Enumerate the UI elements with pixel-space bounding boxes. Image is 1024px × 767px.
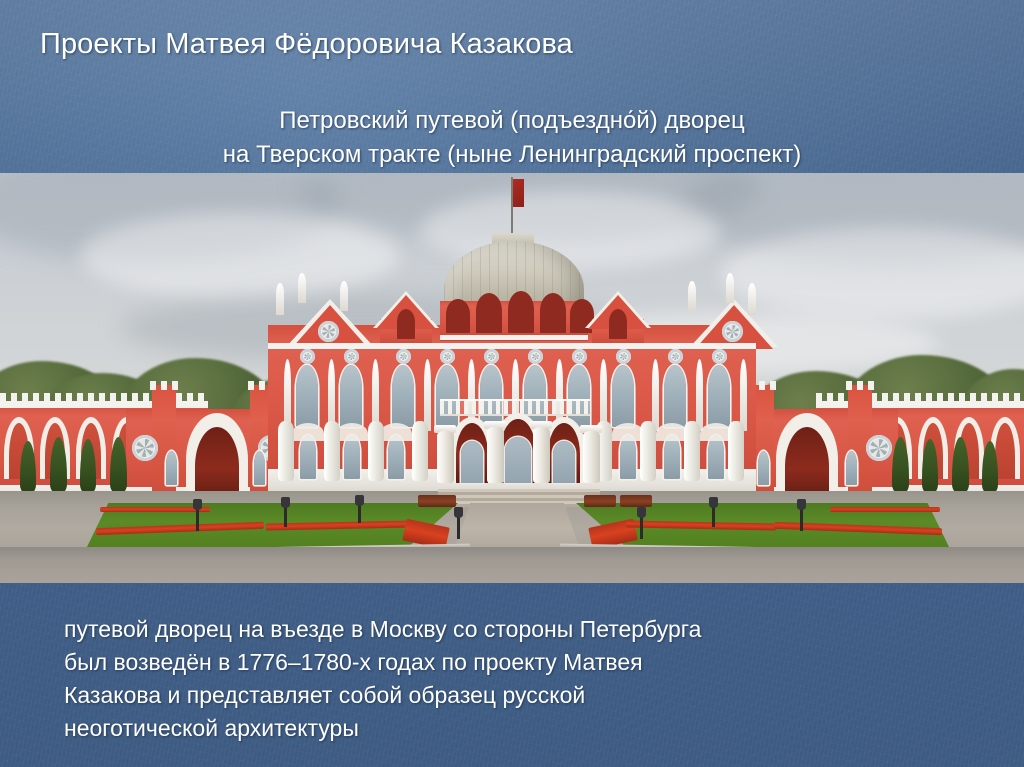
lamp-head (797, 499, 806, 510)
ground-floor-window (664, 435, 680, 479)
body-line-3: Казакова и представляет собой образец ру… (64, 679, 964, 712)
body-line-2: был возведён в 1776–1780-х годах по прое… (64, 646, 964, 679)
ground-floor-window (620, 435, 636, 479)
slide-title: Проекты Матвея Фёдоровича Казакова (40, 26, 980, 62)
entrance-door (553, 441, 575, 483)
corner-pinnacle (276, 283, 284, 315)
left-wing-crenellation (0, 393, 208, 402)
rosette-window (132, 435, 158, 461)
gothic-window (758, 451, 769, 485)
facade-baluster (324, 421, 340, 481)
facade-baluster (278, 421, 294, 481)
ground-floor-window (708, 435, 724, 479)
window-medallion (484, 349, 499, 364)
lamp-head (454, 507, 463, 518)
lamp-head (637, 507, 646, 518)
ground-arch-trim (380, 423, 412, 441)
gothic-window (568, 365, 590, 427)
portico-column (437, 431, 454, 483)
gothic-window (612, 365, 634, 427)
facade-baluster (684, 421, 700, 481)
gothic-window (166, 451, 177, 485)
gallery-arch (540, 293, 566, 333)
lamp-head (281, 497, 290, 508)
colonnette (424, 359, 431, 431)
corner-pinnacle (726, 273, 734, 303)
body-line-4: неоготической архитектуры (64, 712, 964, 745)
gothic-window (392, 365, 414, 427)
dormer-window (397, 309, 415, 339)
body-line-1: путевой дворец на въезде в Москву со сто… (64, 613, 964, 646)
corner-pinnacle (340, 281, 348, 311)
portico-column (583, 431, 600, 483)
window-medallion (572, 349, 587, 364)
gothic-window (340, 365, 362, 427)
park-bench (620, 495, 652, 507)
gallery-cornice (440, 335, 588, 340)
ground-floor-window (344, 435, 360, 479)
gothic-window (254, 451, 265, 485)
corner-pinnacle (298, 273, 306, 303)
window-medallion (440, 349, 455, 364)
gothic-window (664, 365, 686, 427)
gothic-window (480, 365, 502, 427)
park-bench (418, 495, 456, 507)
colonnette (652, 359, 659, 431)
gallery-arch (508, 291, 534, 333)
colonnette (740, 359, 747, 431)
facade-baluster (640, 421, 656, 481)
window-medallion (528, 349, 543, 364)
dormer-window (609, 309, 627, 339)
corner-pinnacle (688, 281, 696, 311)
window-medallion (712, 349, 727, 364)
window-medallion (668, 349, 683, 364)
ground-arch-trim (336, 423, 368, 441)
gallery-arch (446, 299, 470, 333)
gothic-window (296, 365, 318, 427)
cloud (80, 213, 400, 299)
tower-crenellation (846, 381, 874, 390)
gable-rosette (722, 321, 743, 342)
flower-bed (830, 507, 940, 512)
presentation-slide: Проекты Матвея Фёдоровича Казакова Петро… (0, 0, 1024, 767)
colonnette (696, 359, 703, 431)
corner-pinnacle (748, 283, 756, 315)
slide-subtitle-line-2: на Тверском тракте (ныне Ленинградский п… (60, 138, 964, 172)
gallery-arch (476, 293, 502, 333)
window-medallion (396, 349, 411, 364)
facade-baluster (728, 421, 744, 481)
rosette-window (866, 435, 892, 461)
window-medallion (300, 349, 315, 364)
left-wing-cornice (0, 401, 208, 408)
ground-floor-window (300, 435, 316, 479)
slide-body-text: путевой дворец на въезде в Москву со сто… (64, 613, 964, 745)
gothic-window (436, 365, 458, 427)
gothic-window (708, 365, 730, 427)
portico-column (533, 427, 550, 483)
window-medallion (616, 349, 631, 364)
slide-subtitle-line-1: Петровский путевой (подъездно́й) дворец (60, 104, 964, 138)
ground-floor-window (388, 435, 404, 479)
lamp-head (355, 495, 364, 506)
palace-main-cornice (268, 343, 756, 349)
slide-subtitle: Петровский путевой (подъездно́й) дворец … (60, 104, 964, 172)
russian-flag (513, 179, 524, 207)
gable-rosette (318, 321, 339, 342)
gothic-window (846, 451, 857, 485)
entrance-door (461, 441, 483, 483)
park-bench (584, 495, 616, 507)
tower-crenellation (150, 381, 178, 390)
lamp-head (193, 499, 202, 510)
lamp-head (709, 497, 718, 508)
ground-arch-trim (292, 423, 324, 441)
window-medallion (344, 349, 359, 364)
facade-baluster (412, 421, 428, 481)
facade-baluster (368, 421, 384, 481)
portico-column (487, 427, 504, 483)
entrance-door (505, 437, 531, 483)
palace-photograph (0, 173, 1024, 583)
front-pavement (0, 547, 1024, 583)
